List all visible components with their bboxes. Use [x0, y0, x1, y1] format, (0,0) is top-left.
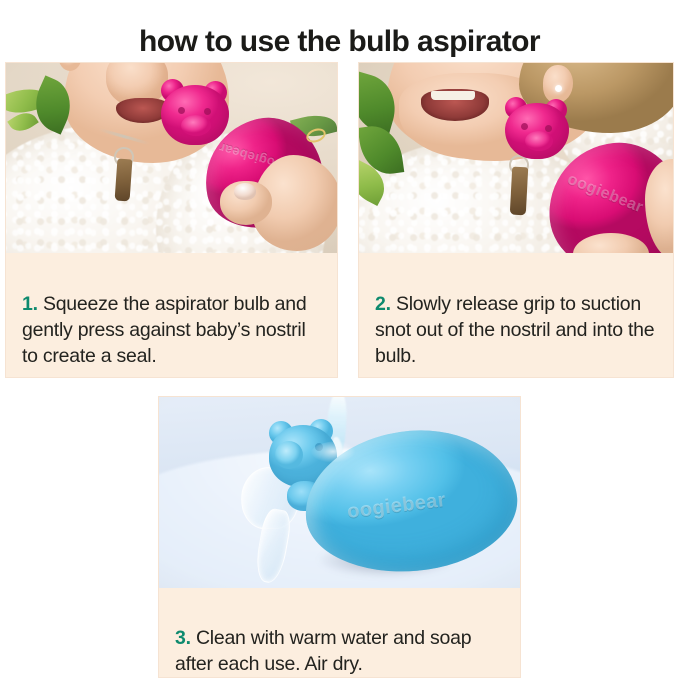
step-1-number: 1.	[22, 293, 43, 315]
step-1-photo: oogiebear	[6, 63, 337, 253]
step-2-number: 2.	[375, 293, 396, 315]
step-3-caption: 3. Clean with warm water and soap after …	[159, 608, 520, 679]
step-3-text: Clean with warm water and soap after eac…	[175, 627, 471, 675]
step-card-1: oogiebear 1. Squeeze the aspirator bulb …	[5, 62, 338, 378]
step-1-caption: 1. Squeeze the aspirator bulb and gently…	[6, 273, 337, 379]
step-3-photo: oogiebear	[159, 397, 520, 588]
photo-vignette	[159, 397, 520, 588]
step-1-text: Squeeze the aspirator bulb and gently pr…	[22, 293, 306, 367]
step-3-number: 3.	[175, 627, 196, 649]
step-card-3: oogiebear 3. Clean with warm water and s…	[158, 396, 521, 678]
photo-vignette	[6, 63, 337, 253]
step-2-caption: 2. Slowly release grip to suction snot o…	[359, 273, 673, 379]
photo-vignette	[359, 63, 673, 253]
step-card-2: oogiebear 2. Slowly release grip to suct…	[358, 62, 674, 378]
step-2-photo: oogiebear	[359, 63, 673, 253]
step-2-text: Slowly release grip to suction snot out …	[375, 293, 654, 367]
